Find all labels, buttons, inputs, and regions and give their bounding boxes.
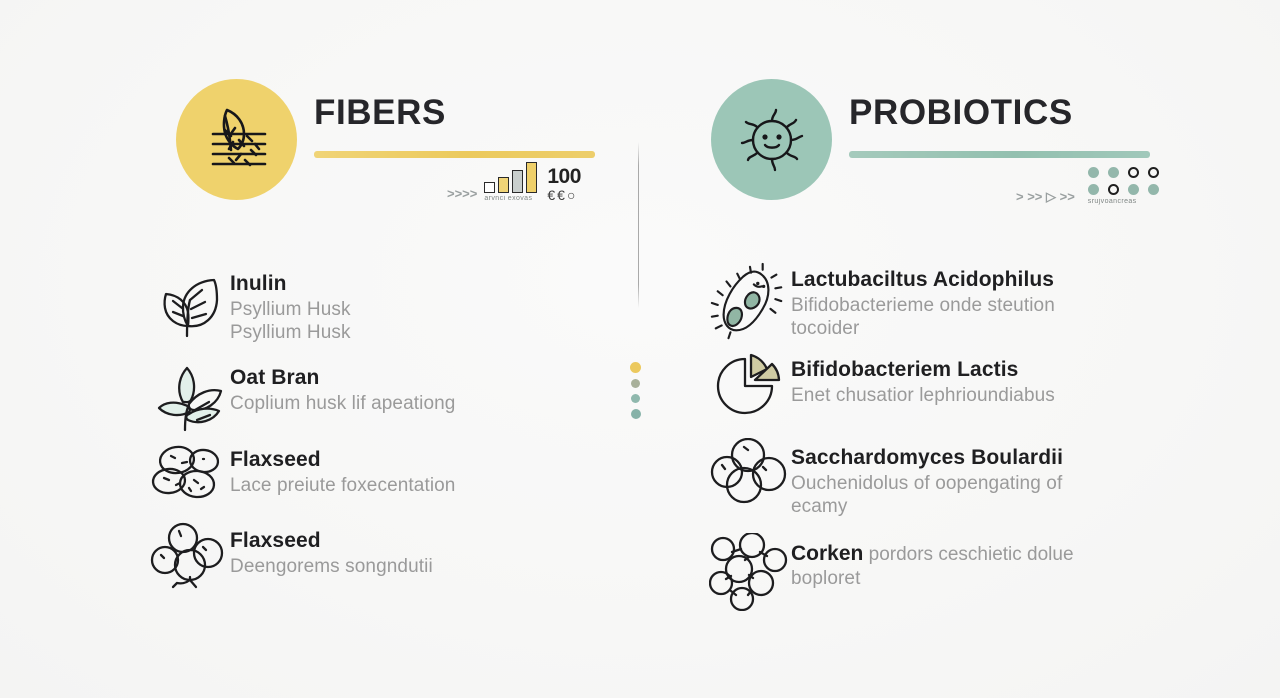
chevron-run-icon: >>>>	[447, 187, 477, 200]
microbe-smiley-icon	[732, 100, 812, 180]
list-item[interactable]: Lactubaciltus Acidophilus Bifidobacterie…	[707, 258, 1157, 348]
probiotics-item-list: Lactubaciltus Acidophilus Bifidobacterie…	[707, 258, 1157, 611]
fibers-badge	[176, 79, 297, 200]
infographic-canvas: FIBERS >>>> arvnci exovas 100 €€○	[0, 0, 1280, 698]
probiotics-stat-cluster: > >> ▷ >> srujvoancreas	[1016, 167, 1159, 205]
item-title: Lactubaciltus Acidophilus	[791, 268, 1055, 292]
item-description: Deengorems songndutii	[230, 555, 433, 578]
fibers-micro-label: arvnci exovas	[484, 195, 532, 202]
list-item-text: Bifidobacteriem Lactis Enet chusatior le…	[791, 348, 1055, 407]
item-title: Flaxseed	[230, 448, 455, 472]
probiotics-header-text: PROBIOTICS	[849, 95, 1149, 158]
item-title: Oat Bran	[230, 366, 455, 390]
chevron-run-icon: > >> ▷ >>	[1016, 190, 1075, 203]
bacterium-icon	[707, 258, 791, 336]
list-item-text: Oat Bran Coplium husk lif apeationg	[230, 356, 455, 415]
item-description-2: tocoider	[791, 317, 1055, 340]
item-description-2: Psyllium Husk	[230, 321, 351, 344]
probiotics-badge	[711, 79, 832, 200]
probiotics-micro-label: srujvoancreas	[1088, 198, 1137, 205]
center-dot-3	[631, 394, 640, 403]
fibers-accent-bar	[314, 151, 595, 158]
list-item[interactable]: Corken pordors ceschietic dolue boploret	[707, 531, 1157, 611]
item-description: Ouchenidolus of oopengating of	[791, 472, 1063, 495]
item-description: Coplium husk lif apeationg	[230, 392, 455, 415]
item-title: Inulin	[230, 272, 351, 296]
list-item-text: Corken pordors ceschietic dolue boploret	[791, 531, 1074, 590]
fibers-stat-value: 100	[547, 167, 581, 187]
item-title: Bifidobacteriem Lactis	[791, 358, 1055, 382]
seeds-icon	[146, 438, 230, 516]
fibers-stat-cluster: >>>> arvnci exovas 100 €€○	[447, 163, 581, 202]
fibers-header-text: FIBERS	[314, 95, 596, 158]
item-description: Bifidobacterieme onde steution	[791, 294, 1055, 317]
item-description: Lace preiute foxecentation	[230, 474, 455, 497]
list-item[interactable]: Inulin Psyllium Husk Psyllium Husk	[146, 262, 576, 356]
center-dot-2	[631, 379, 640, 388]
probiotics-title: PROBIOTICS	[849, 95, 1149, 130]
item-description: pordors ceschietic dolue	[863, 544, 1073, 565]
item-description: Enet chusatior lephrioundiabus	[791, 384, 1055, 407]
two-leaves-icon	[146, 262, 230, 340]
yeast-cells-icon	[707, 436, 791, 514]
center-dot-stack	[630, 362, 641, 419]
list-item-text: Lactubaciltus Acidophilus Bifidobacterie…	[791, 258, 1055, 340]
fibers-title: FIBERS	[314, 95, 596, 130]
list-item-text: Sacchardomyces Boulardii Ouchenidolus of…	[791, 436, 1063, 518]
pie-chart-icon	[707, 348, 791, 426]
probiotics-accent-bar	[849, 151, 1150, 158]
wheat-leaf-icon	[195, 98, 279, 182]
molecule-chain-icon	[707, 531, 791, 609]
dot-grid-icon	[1088, 167, 1159, 195]
list-item-text: Inulin Psyllium Husk Psyllium Husk	[230, 262, 351, 344]
vertical-divider	[638, 142, 639, 308]
center-dot-4	[631, 409, 641, 419]
list-item-text: Flaxseed Deengorems songndutii	[230, 519, 433, 578]
item-title: Flaxseed	[230, 529, 433, 553]
list-item[interactable]: Bifidobacteriem Lactis Enet chusatior le…	[707, 348, 1157, 436]
list-item[interactable]: Flaxseed Deengorems songndutii	[146, 519, 576, 599]
item-title: Corken	[791, 542, 863, 565]
item-description-2: ecamy	[791, 495, 1063, 518]
fibers-item-list: Inulin Psyllium Husk Psyllium Husk Oat B…	[146, 262, 576, 599]
item-description-2: boploret	[791, 567, 1074, 590]
list-item[interactable]: Oat Bran Coplium husk lif apeationg	[146, 356, 576, 438]
item-title: Sacchardomyces Boulardii	[791, 446, 1063, 470]
center-dot-1	[630, 362, 641, 373]
molecule-icon	[146, 519, 230, 597]
fibers-stat-subvalue: €€○	[547, 188, 577, 202]
list-item[interactable]: Flaxseed Lace preiute foxecentation	[146, 438, 576, 519]
leaf-cluster-icon	[146, 356, 230, 434]
item-description: Psyllium Husk	[230, 298, 351, 321]
bar-chart-icon	[484, 163, 537, 193]
list-item-text: Flaxseed Lace preiute foxecentation	[230, 438, 455, 497]
list-item[interactable]: Sacchardomyces Boulardii Ouchenidolus of…	[707, 436, 1157, 531]
